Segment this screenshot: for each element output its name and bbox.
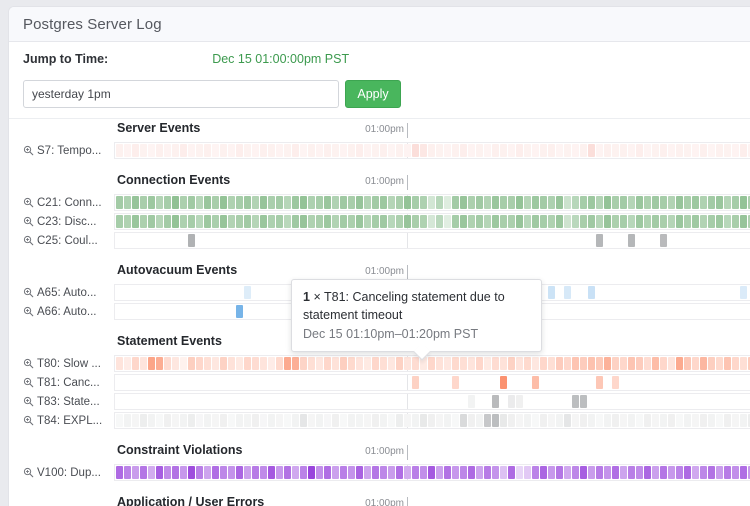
event-cell[interactable]: [628, 215, 635, 228]
event-cell[interactable]: [308, 215, 315, 228]
event-cell[interactable]: [364, 144, 371, 157]
event-cell[interactable]: [500, 196, 507, 209]
event-cell[interactable]: [164, 357, 171, 370]
event-cell[interactable]: [148, 466, 155, 479]
event-cell[interactable]: [620, 466, 627, 479]
event-cell[interactable]: [532, 376, 539, 389]
zoom-in-icon[interactable]: [23, 415, 34, 426]
event-cell[interactable]: [412, 357, 419, 370]
event-cell[interactable]: [580, 215, 587, 228]
event-cell[interactable]: [684, 215, 691, 228]
event-cell[interactable]: [172, 196, 179, 209]
event-cell[interactable]: [524, 196, 531, 209]
event-cell[interactable]: [644, 357, 651, 370]
event-cell[interactable]: [484, 215, 491, 228]
event-cell[interactable]: [492, 357, 499, 370]
event-cell[interactable]: [188, 144, 195, 157]
event-cell[interactable]: [228, 196, 235, 209]
event-cell[interactable]: [700, 196, 707, 209]
event-cell[interactable]: [412, 196, 419, 209]
event-cell[interactable]: [500, 144, 507, 157]
event-cell[interactable]: [612, 215, 619, 228]
event-cell[interactable]: [188, 414, 195, 427]
event-cell[interactable]: [580, 414, 587, 427]
event-cell[interactable]: [636, 357, 643, 370]
event-cell[interactable]: [388, 144, 395, 157]
event-cell[interactable]: [588, 144, 595, 157]
event-cell[interactable]: [676, 215, 683, 228]
event-cell[interactable]: [388, 215, 395, 228]
event-cell[interactable]: [212, 414, 219, 427]
event-cell[interactable]: [204, 144, 211, 157]
event-cell[interactable]: [332, 466, 339, 479]
event-cell[interactable]: [444, 215, 451, 228]
event-cell[interactable]: [692, 144, 699, 157]
event-cell[interactable]: [556, 215, 563, 228]
zoom-in-icon[interactable]: [23, 377, 34, 388]
event-cell[interactable]: [588, 414, 595, 427]
event-cell[interactable]: [316, 414, 323, 427]
event-cell[interactable]: [652, 466, 659, 479]
event-cell[interactable]: [116, 466, 123, 479]
event-cell[interactable]: [724, 357, 731, 370]
event-cell[interactable]: [428, 215, 435, 228]
event-cell[interactable]: [620, 357, 627, 370]
event-cell[interactable]: [604, 144, 611, 157]
event-cell[interactable]: [260, 196, 267, 209]
event-cell[interactable]: [292, 196, 299, 209]
event-cell[interactable]: [612, 414, 619, 427]
event-cell[interactable]: [492, 196, 499, 209]
event-cell[interactable]: [444, 414, 451, 427]
event-cell[interactable]: [380, 215, 387, 228]
event-cell[interactable]: [260, 466, 267, 479]
event-cell[interactable]: [572, 196, 579, 209]
event-cell[interactable]: [444, 196, 451, 209]
event-cell[interactable]: [596, 234, 603, 247]
event-cell[interactable]: [508, 144, 515, 157]
row-label[interactable]: C25: Coul...: [9, 231, 114, 250]
event-cell[interactable]: [724, 196, 731, 209]
apply-button[interactable]: Apply: [345, 80, 401, 108]
event-cell[interactable]: [252, 144, 259, 157]
event-cell[interactable]: [124, 414, 131, 427]
event-cell[interactable]: [492, 466, 499, 479]
event-cell[interactable]: [612, 357, 619, 370]
event-cell[interactable]: [436, 144, 443, 157]
event-cell[interactable]: [732, 466, 739, 479]
event-cell[interactable]: [676, 357, 683, 370]
event-cell[interactable]: [348, 144, 355, 157]
event-cell[interactable]: [324, 414, 331, 427]
event-cell[interactable]: [300, 215, 307, 228]
event-cell[interactable]: [724, 466, 731, 479]
event-cell[interactable]: [660, 234, 667, 247]
event-cell[interactable]: [236, 215, 243, 228]
event-cell[interactable]: [524, 414, 531, 427]
event-cell[interactable]: [580, 466, 587, 479]
event-cell[interactable]: [420, 466, 427, 479]
event-cell[interactable]: [580, 395, 587, 408]
event-cell[interactable]: [604, 215, 611, 228]
event-cell[interactable]: [700, 466, 707, 479]
event-cell[interactable]: [276, 357, 283, 370]
event-cell[interactable]: [132, 215, 139, 228]
event-cell[interactable]: [156, 144, 163, 157]
event-cell[interactable]: [460, 144, 467, 157]
event-cell[interactable]: [556, 414, 563, 427]
event-cell[interactable]: [188, 215, 195, 228]
event-cell[interactable]: [508, 215, 515, 228]
row-label[interactable]: T81: Canc...: [9, 373, 114, 392]
event-cell[interactable]: [492, 414, 499, 427]
event-cell[interactable]: [124, 215, 131, 228]
event-cell[interactable]: [316, 466, 323, 479]
event-cell[interactable]: [484, 144, 491, 157]
event-cell[interactable]: [244, 414, 251, 427]
event-cell[interactable]: [292, 215, 299, 228]
event-cell[interactable]: [572, 144, 579, 157]
event-cell[interactable]: [452, 376, 459, 389]
event-cell[interactable]: [612, 466, 619, 479]
event-cell[interactable]: [140, 196, 147, 209]
event-cell[interactable]: [300, 466, 307, 479]
event-cell[interactable]: [516, 357, 523, 370]
event-cell[interactable]: [428, 196, 435, 209]
event-cell[interactable]: [500, 466, 507, 479]
event-track[interactable]: [114, 213, 750, 230]
event-cell[interactable]: [604, 196, 611, 209]
event-cell[interactable]: [284, 144, 291, 157]
event-cell[interactable]: [548, 357, 555, 370]
event-cell[interactable]: [420, 414, 427, 427]
event-cell[interactable]: [612, 196, 619, 209]
event-cell[interactable]: [332, 414, 339, 427]
row-label[interactable]: C23: Disc...: [9, 212, 114, 231]
event-cell[interactable]: [532, 414, 539, 427]
event-cell[interactable]: [732, 144, 739, 157]
event-cell[interactable]: [684, 196, 691, 209]
event-cell[interactable]: [564, 466, 571, 479]
event-cell[interactable]: [212, 357, 219, 370]
event-cell[interactable]: [380, 414, 387, 427]
event-cell[interactable]: [468, 144, 475, 157]
event-cell[interactable]: [644, 466, 651, 479]
event-cell[interactable]: [684, 414, 691, 427]
event-cell[interactable]: [156, 357, 163, 370]
event-cell[interactable]: [156, 414, 163, 427]
event-cell[interactable]: [188, 196, 195, 209]
event-cell[interactable]: [444, 466, 451, 479]
event-cell[interactable]: [396, 196, 403, 209]
event-cell[interactable]: [220, 466, 227, 479]
event-cell[interactable]: [404, 466, 411, 479]
event-cell[interactable]: [204, 357, 211, 370]
event-cell[interactable]: [116, 414, 123, 427]
event-cell[interactable]: [148, 196, 155, 209]
event-cell[interactable]: [228, 466, 235, 479]
event-cell[interactable]: [548, 215, 555, 228]
event-cell[interactable]: [700, 357, 707, 370]
event-cell[interactable]: [132, 144, 139, 157]
event-cell[interactable]: [372, 196, 379, 209]
event-cell[interactable]: [492, 395, 499, 408]
event-cell[interactable]: [252, 414, 259, 427]
row-label[interactable]: T83: State...: [9, 392, 114, 411]
event-cell[interactable]: [388, 196, 395, 209]
zoom-in-icon[interactable]: [23, 216, 34, 227]
event-cell[interactable]: [708, 466, 715, 479]
event-cell[interactable]: [580, 357, 587, 370]
event-cell[interactable]: [220, 414, 227, 427]
event-cell[interactable]: [588, 286, 595, 299]
event-track[interactable]: [114, 142, 750, 159]
event-cell[interactable]: [476, 414, 483, 427]
event-cell[interactable]: [180, 144, 187, 157]
event-cell[interactable]: [492, 215, 499, 228]
event-cell[interactable]: [652, 196, 659, 209]
event-cell[interactable]: [380, 466, 387, 479]
event-cell[interactable]: [180, 414, 187, 427]
event-cell[interactable]: [500, 357, 507, 370]
event-cell[interactable]: [380, 144, 387, 157]
event-cell[interactable]: [604, 414, 611, 427]
event-cell[interactable]: [116, 196, 123, 209]
event-cell[interactable]: [372, 466, 379, 479]
event-cell[interactable]: [348, 196, 355, 209]
event-cell[interactable]: [636, 466, 643, 479]
event-cell[interactable]: [636, 414, 643, 427]
event-cell[interactable]: [156, 466, 163, 479]
zoom-in-icon[interactable]: [23, 306, 34, 317]
event-cell[interactable]: [484, 357, 491, 370]
event-cell[interactable]: [444, 144, 451, 157]
event-cell[interactable]: [452, 466, 459, 479]
event-cell[interactable]: [156, 215, 163, 228]
row-label[interactable]: T84: EXPL...: [9, 411, 114, 430]
event-cell[interactable]: [332, 357, 339, 370]
event-cell[interactable]: [660, 414, 667, 427]
event-cell[interactable]: [196, 414, 203, 427]
event-cell[interactable]: [596, 357, 603, 370]
event-cell[interactable]: [572, 414, 579, 427]
event-cell[interactable]: [164, 215, 171, 228]
event-cell[interactable]: [708, 215, 715, 228]
event-cell[interactable]: [676, 466, 683, 479]
event-cell[interactable]: [268, 196, 275, 209]
time-input[interactable]: [23, 80, 339, 108]
event-cell[interactable]: [676, 196, 683, 209]
event-cell[interactable]: [372, 144, 379, 157]
event-cell[interactable]: [380, 196, 387, 209]
event-cell[interactable]: [284, 215, 291, 228]
event-cell[interactable]: [644, 144, 651, 157]
event-cell[interactable]: [388, 357, 395, 370]
event-cell[interactable]: [372, 414, 379, 427]
event-cell[interactable]: [300, 144, 307, 157]
event-cell[interactable]: [516, 215, 523, 228]
event-cell[interactable]: [692, 357, 699, 370]
event-cell[interactable]: [340, 357, 347, 370]
event-cell[interactable]: [532, 357, 539, 370]
event-cell[interactable]: [540, 196, 547, 209]
event-track[interactable]: [114, 194, 750, 211]
event-cell[interactable]: [468, 414, 475, 427]
event-cell[interactable]: [404, 215, 411, 228]
event-cell[interactable]: [596, 215, 603, 228]
event-cell[interactable]: [500, 215, 507, 228]
event-cell[interactable]: [628, 144, 635, 157]
event-cell[interactable]: [276, 144, 283, 157]
event-cell[interactable]: [260, 215, 267, 228]
event-cell[interactable]: [252, 357, 259, 370]
event-cell[interactable]: [660, 196, 667, 209]
event-cell[interactable]: [524, 357, 531, 370]
event-cell[interactable]: [740, 414, 747, 427]
event-cell[interactable]: [620, 215, 627, 228]
event-cell[interactable]: [500, 376, 507, 389]
event-cell[interactable]: [292, 414, 299, 427]
event-cell[interactable]: [460, 466, 467, 479]
event-cell[interactable]: [324, 215, 331, 228]
event-cell[interactable]: [180, 466, 187, 479]
event-cell[interactable]: [612, 376, 619, 389]
event-cell[interactable]: [276, 196, 283, 209]
event-cell[interactable]: [636, 144, 643, 157]
event-cell[interactable]: [404, 196, 411, 209]
event-cell[interactable]: [316, 196, 323, 209]
event-cell[interactable]: [420, 215, 427, 228]
event-cell[interactable]: [500, 414, 507, 427]
event-cell[interactable]: [356, 144, 363, 157]
row-label[interactable]: C21: Conn...: [9, 193, 114, 212]
event-cell[interactable]: [668, 414, 675, 427]
event-cell[interactable]: [132, 466, 139, 479]
event-cell[interactable]: [660, 215, 667, 228]
event-cell[interactable]: [484, 196, 491, 209]
event-cell[interactable]: [572, 395, 579, 408]
event-cell[interactable]: [532, 215, 539, 228]
event-cell[interactable]: [324, 144, 331, 157]
event-cell[interactable]: [236, 414, 243, 427]
event-cell[interactable]: [116, 215, 123, 228]
event-cell[interactable]: [316, 215, 323, 228]
event-cell[interactable]: [396, 414, 403, 427]
event-cell[interactable]: [236, 196, 243, 209]
event-cell[interactable]: [428, 144, 435, 157]
event-cell[interactable]: [140, 414, 147, 427]
event-cell[interactable]: [236, 144, 243, 157]
event-cell[interactable]: [188, 234, 195, 247]
event-cell[interactable]: [692, 215, 699, 228]
event-cell[interactable]: [244, 286, 251, 299]
event-cell[interactable]: [532, 144, 539, 157]
event-cell[interactable]: [668, 196, 675, 209]
row-label[interactable]: A66: Auto...: [9, 302, 114, 321]
event-cell[interactable]: [724, 215, 731, 228]
event-cell[interactable]: [148, 414, 155, 427]
event-cell[interactable]: [428, 466, 435, 479]
event-cell[interactable]: [276, 466, 283, 479]
event-cell[interactable]: [196, 357, 203, 370]
event-cell[interactable]: [228, 414, 235, 427]
event-cell[interactable]: [196, 466, 203, 479]
event-cell[interactable]: [596, 196, 603, 209]
event-cell[interactable]: [372, 357, 379, 370]
event-cell[interactable]: [628, 357, 635, 370]
event-cell[interactable]: [468, 395, 475, 408]
event-cell[interactable]: [732, 215, 739, 228]
event-cell[interactable]: [348, 466, 355, 479]
event-cell[interactable]: [508, 357, 515, 370]
event-cell[interactable]: [388, 466, 395, 479]
event-cell[interactable]: [716, 414, 723, 427]
event-cell[interactable]: [620, 144, 627, 157]
event-cell[interactable]: [436, 414, 443, 427]
event-cell[interactable]: [380, 357, 387, 370]
event-cell[interactable]: [460, 196, 467, 209]
event-cell[interactable]: [140, 357, 147, 370]
event-cell[interactable]: [116, 357, 123, 370]
event-cell[interactable]: [308, 357, 315, 370]
event-cell[interactable]: [396, 215, 403, 228]
event-cell[interactable]: [260, 144, 267, 157]
event-cell[interactable]: [212, 144, 219, 157]
event-cell[interactable]: [244, 215, 251, 228]
event-cell[interactable]: [356, 414, 363, 427]
event-cell[interactable]: [284, 466, 291, 479]
event-cell[interactable]: [396, 466, 403, 479]
event-cell[interactable]: [284, 357, 291, 370]
event-cell[interactable]: [468, 466, 475, 479]
event-cell[interactable]: [588, 466, 595, 479]
event-cell[interactable]: [276, 215, 283, 228]
event-cell[interactable]: [252, 196, 259, 209]
event-cell[interactable]: [548, 286, 555, 299]
event-cell[interactable]: [300, 357, 307, 370]
event-cell[interactable]: [412, 144, 419, 157]
event-cell[interactable]: [740, 357, 747, 370]
event-cell[interactable]: [396, 357, 403, 370]
event-cell[interactable]: [668, 357, 675, 370]
event-cell[interactable]: [164, 196, 171, 209]
event-cell[interactable]: [708, 414, 715, 427]
event-cell[interactable]: [148, 215, 155, 228]
event-cell[interactable]: [172, 144, 179, 157]
event-track[interactable]: [114, 393, 750, 410]
event-cell[interactable]: [364, 466, 371, 479]
event-cell[interactable]: [452, 357, 459, 370]
event-cell[interactable]: [540, 357, 547, 370]
event-cell[interactable]: [516, 466, 523, 479]
event-cell[interactable]: [212, 466, 219, 479]
event-cell[interactable]: [476, 196, 483, 209]
event-cell[interactable]: [716, 196, 723, 209]
event-cell[interactable]: [340, 414, 347, 427]
event-cell[interactable]: [580, 196, 587, 209]
event-cell[interactable]: [364, 215, 371, 228]
event-cell[interactable]: [716, 144, 723, 157]
event-cell[interactable]: [684, 357, 691, 370]
row-label[interactable]: A65: Auto...: [9, 283, 114, 302]
event-cell[interactable]: [668, 466, 675, 479]
event-cell[interactable]: [148, 357, 155, 370]
event-cell[interactable]: [124, 196, 131, 209]
event-cell[interactable]: [540, 144, 547, 157]
row-label[interactable]: V100: Dup...: [9, 463, 114, 482]
event-cell[interactable]: [260, 414, 267, 427]
event-cell[interactable]: [644, 215, 651, 228]
